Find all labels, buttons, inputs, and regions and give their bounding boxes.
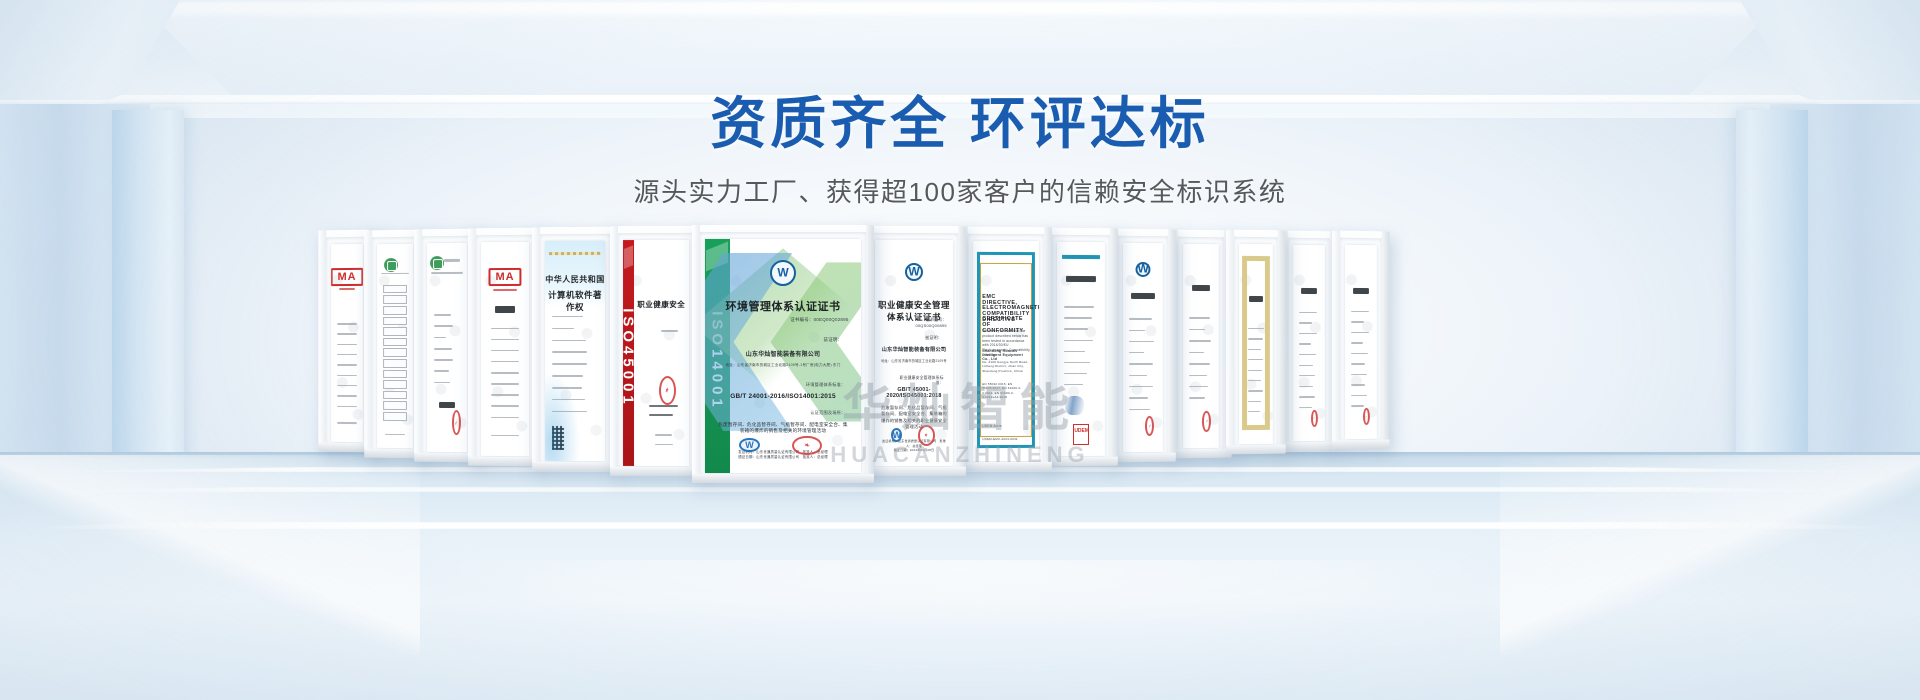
ce-cert-no: UDEM-EMC-2024-0042 xyxy=(982,437,1031,441)
certificate-frame[interactable]: EMC DIRECTIVE,ELECTROMAGNETIC COMPATIBIL… xyxy=(960,227,1052,472)
cert-text-line xyxy=(1299,322,1312,323)
frame-edge-bottom xyxy=(862,467,966,476)
cert-gold-rule xyxy=(549,252,602,255)
cert-text-line xyxy=(1129,397,1147,398)
frame-edge-left xyxy=(318,230,326,451)
cert-text-line xyxy=(337,344,356,345)
cert-table-cell xyxy=(383,317,407,326)
frame-edge-left xyxy=(468,228,476,466)
cert-text-line xyxy=(337,323,356,324)
cert-text-line xyxy=(434,337,446,339)
cert-scope: 危废暂存间、危化品暂存间、气瓶暂存间、配电室安全合、集装箱的爆炸的销售及相关的职… xyxy=(880,405,947,430)
red-seal-icon xyxy=(1202,411,1211,431)
cert-title-bar xyxy=(1353,288,1369,294)
red-seal-icon xyxy=(1311,410,1318,428)
gold-decorative-border xyxy=(1242,256,1270,430)
cert-table-cell xyxy=(383,285,407,294)
certificate-paper xyxy=(377,244,413,448)
cert-text-line xyxy=(1129,318,1151,319)
cert-title: 环境管理体系认证证书 xyxy=(705,298,861,314)
cert-footer-line xyxy=(491,435,520,437)
blue-badge-icon xyxy=(739,438,759,452)
cert-org: 山东华灿智能装备有限公司 xyxy=(875,346,953,353)
page-title: 资质齐全 环评达标 xyxy=(0,92,1920,156)
frame-edge-bottom xyxy=(1170,449,1232,459)
certificate-paper: MA xyxy=(481,242,529,456)
cert-text-line xyxy=(1248,338,1263,339)
cert-text-line xyxy=(552,363,587,365)
cert-text-line xyxy=(1064,351,1085,352)
cert-table-cell xyxy=(383,412,407,421)
cert-stamp-text xyxy=(439,402,455,408)
cert-table-cell xyxy=(383,348,407,357)
cert-issuer-name xyxy=(444,259,460,262)
cert-text-line xyxy=(337,375,356,376)
cert-text-line xyxy=(1248,390,1263,391)
cert-footer-line xyxy=(337,422,356,424)
cert-text-line xyxy=(337,333,356,334)
red-seal-icon xyxy=(452,410,461,435)
cert-text-line xyxy=(1299,396,1316,397)
cert-text-line xyxy=(1064,328,1088,329)
cert-text-line xyxy=(434,314,451,316)
cert-text-line xyxy=(1190,352,1204,353)
cert-title-line1: 中华人民共和国 xyxy=(545,274,605,285)
cert-number: 证书编号：00QS00Q00895 xyxy=(898,317,946,328)
cert-text-line xyxy=(1299,386,1313,387)
cert-text-line xyxy=(1190,317,1211,318)
cert-address: 地址：山东省济南市历城区工业北路2109号-1号厂房(电力大厦) 东门 xyxy=(714,363,851,368)
certificate-paper: 中华人民共和国计算机软件著作权 xyxy=(545,241,605,461)
ma-mark-caption xyxy=(493,289,518,291)
cert-org-label: 兹证明： xyxy=(898,335,942,341)
cert-text-line xyxy=(434,348,452,350)
frame-edge-right xyxy=(1110,228,1118,466)
cert-text-line xyxy=(337,395,356,397)
cnca-logo-icon xyxy=(770,260,796,286)
paper-watermark-pattern xyxy=(1183,244,1219,448)
cert-text-line xyxy=(552,340,586,342)
cert-scope-label: 认证范围及场所： xyxy=(767,410,845,416)
cert-text-line xyxy=(337,405,356,407)
cert-text-line xyxy=(1248,370,1262,371)
frame-edge-left xyxy=(414,229,422,461)
cert-text-line xyxy=(552,351,587,353)
cert-text-line xyxy=(1248,349,1262,350)
frame-edge-bottom xyxy=(610,467,702,476)
cert-text-line xyxy=(1299,343,1311,344)
frame-edge-right xyxy=(866,225,874,483)
cert-title-bar xyxy=(1131,293,1155,299)
cert-org: 山东华灿智能装备有限公司 xyxy=(705,349,861,358)
frame-edge-right xyxy=(1044,227,1052,471)
cert-text-line xyxy=(1248,401,1262,402)
cert-text-line xyxy=(434,325,453,327)
certificate-frame[interactable]: UDEM xyxy=(1044,228,1118,467)
frame-edge-bottom xyxy=(692,474,874,483)
cert-text-line xyxy=(1129,375,1147,376)
cert-table-cell xyxy=(383,338,407,347)
cert-text-line xyxy=(1064,306,1095,307)
cert-table-cell xyxy=(383,359,407,368)
cert-text-line xyxy=(1190,340,1211,341)
cert-address: 地址：山东省济南市历城区工业北路2109号 xyxy=(880,358,947,363)
cert-title-bar xyxy=(1192,285,1209,291)
ce-address: No. 2109 Gongye North Road, Licheng Dist… xyxy=(982,360,1031,374)
certificate-frame[interactable] xyxy=(1332,231,1389,450)
cert-text-line xyxy=(1129,363,1152,364)
certificate-paper xyxy=(1293,245,1325,441)
blue-badge-icon xyxy=(891,428,902,443)
cnas-mark-icon xyxy=(384,258,398,272)
cnca-logo-icon xyxy=(905,263,923,281)
cert-text-line xyxy=(1190,363,1210,364)
cert-number: 证书编号：00EQ00Q02895 xyxy=(767,317,848,323)
cert-text-line xyxy=(552,328,574,330)
frame-edge-bottom xyxy=(1332,440,1389,450)
certificate-paper: EMC DIRECTIVE,ELECTROMAGNETIC COMPATIBIL… xyxy=(973,241,1039,461)
frame-edge-bottom xyxy=(468,457,542,467)
certificate-frame[interactable] xyxy=(1226,230,1286,455)
ma-mark-icon: MA xyxy=(331,268,363,286)
cert-text-line xyxy=(1351,384,1365,385)
certificate-paper xyxy=(1345,245,1377,439)
frame-edge-right xyxy=(1382,231,1390,448)
frame-edge-right xyxy=(958,226,966,476)
cert-text-line xyxy=(655,444,673,445)
cert-text-line xyxy=(1351,405,1364,406)
certificate-paper: ISO45001职业健康安全 xyxy=(623,240,689,466)
cert-standard-label: 职业健康安全管理体系标准： xyxy=(898,376,943,386)
red-seal-icon xyxy=(659,376,676,405)
cert-text-line xyxy=(491,394,520,395)
cert-table-cell xyxy=(383,306,407,315)
certificate-frame[interactable]: 职业健康安全管理体系认证证书证书编号：00QS00Q00895兹证明：山东华灿智… xyxy=(862,226,966,476)
cert-text-line xyxy=(1299,312,1317,313)
cert-text-line xyxy=(434,370,449,372)
ma-mark-caption xyxy=(339,287,355,289)
cert-text-line xyxy=(1351,353,1368,354)
certificate-frame[interactable]: MA xyxy=(468,228,542,467)
cert-text-line xyxy=(491,339,520,340)
cert-text-line xyxy=(491,372,520,373)
cert-text-line xyxy=(491,405,520,407)
certificate-paper xyxy=(427,243,467,452)
cert-standard: GB/T 24001-2016/ISO14001:2015 xyxy=(705,393,861,400)
certificate-frame[interactable]: ISO14001环境管理体系认证证书证书编号：00EQ00Q02895兹证明：山… xyxy=(692,225,874,483)
frame-edge-left xyxy=(692,225,700,483)
frame-edge-left xyxy=(532,227,540,471)
cert-text-line xyxy=(649,405,678,407)
iso45001-red-band: ISO45001 xyxy=(623,240,634,466)
cert-standard-label: 环境管理体系标准： xyxy=(767,382,845,388)
certificate-paper xyxy=(1183,244,1219,448)
certificate-paper xyxy=(1239,244,1273,444)
frame-edge-bottom xyxy=(1226,445,1286,455)
certificate-frame[interactable] xyxy=(1280,231,1338,452)
cert-text-line xyxy=(1299,365,1314,366)
cert-title-bar xyxy=(1249,296,1263,302)
cert-text-line xyxy=(434,359,452,361)
certificate-paper: ISO14001环境管理体系认证证书证书编号：00EQ00Q02895兹证明：山… xyxy=(705,239,861,473)
certificate-paper xyxy=(1123,243,1163,452)
band-corner-accent xyxy=(624,245,633,269)
ceiling-light-glow xyxy=(130,2,1790,20)
frame-edge-left xyxy=(1332,231,1340,450)
cert-rule xyxy=(381,272,410,274)
ce-issuer: UDEM Adria xyxy=(982,424,1031,428)
cert-text-line xyxy=(1351,321,1364,322)
cnca-logo-icon xyxy=(1136,262,1151,277)
cert-title-line2: 计算机软件著作权 xyxy=(545,289,605,313)
frame-edge-right xyxy=(1168,229,1176,461)
cert-table-cell xyxy=(383,380,407,389)
cert-text-line xyxy=(1064,317,1092,318)
certificate-frame[interactable] xyxy=(1170,230,1232,459)
cert-text-line xyxy=(491,417,520,419)
cert-text-line xyxy=(1129,341,1154,342)
udem-logo-icon: UDEM xyxy=(1073,424,1088,445)
blue-decor-swirl xyxy=(545,369,581,462)
cert-table-cell xyxy=(383,295,407,304)
frame-edge-bottom xyxy=(960,462,1052,472)
cert-certno-line xyxy=(661,330,678,331)
cert-text-line xyxy=(655,434,672,435)
cert-table-cell xyxy=(383,401,407,410)
headline-block: 资质齐全 环评达标 源头实力工厂、获得超100家客户的信赖安全标识系统 xyxy=(0,92,1920,209)
frame-edge-left xyxy=(1226,230,1234,455)
iso45001-number: ISO45001 xyxy=(623,308,637,408)
cert-text-line xyxy=(1299,333,1317,334)
frame-edge-bottom xyxy=(1280,442,1338,452)
udem-top-bar xyxy=(1062,255,1100,259)
cert-text-line xyxy=(1351,342,1363,343)
cert-table-cell xyxy=(383,370,407,379)
udem-title xyxy=(1066,276,1097,282)
cert-table-cell xyxy=(383,327,407,336)
certificate-frame[interactable]: 中华人民共和国计算机软件著作权 xyxy=(532,227,618,471)
cert-title-bar xyxy=(1301,288,1317,294)
cert-signature-block: 发证机构：山东世通质量认证有限公司 批准人：总经理颁证日期：山东世通质量认证有限… xyxy=(716,450,850,461)
cert-text-line xyxy=(1190,397,1206,398)
cert-text-line xyxy=(1129,408,1150,410)
cert-rule xyxy=(431,272,463,274)
certificate-paper: UDEM xyxy=(1057,242,1105,456)
cert-text-line xyxy=(1351,374,1367,375)
cert-text-line xyxy=(491,383,520,384)
ma-mark-icon: MA xyxy=(488,268,521,286)
cert-scope: 危废暂存间、危化品暂存间、气瓶暂存间、配电室安全合、集装箱的爆炸的销售及相关的环… xyxy=(716,422,850,436)
cnas-mark-icon xyxy=(430,256,444,270)
frame-edge-bottom xyxy=(1110,453,1176,463)
frame-edge-right xyxy=(1278,230,1286,453)
certificate-frame[interactable] xyxy=(1110,229,1176,463)
cert-text-line xyxy=(337,364,356,365)
cert-title: 职业健康安全 xyxy=(635,299,688,310)
signature-mark xyxy=(1065,396,1084,415)
cert-text-line xyxy=(1351,395,1367,396)
red-seal-icon xyxy=(918,425,935,445)
banner-stage: 资质齐全 环评达标 源头实力工厂、获得超100家客户的信赖安全标识系统 MA M… xyxy=(0,0,1920,700)
cert-text-line xyxy=(1351,363,1366,364)
cert-text-line xyxy=(1129,329,1145,330)
cert-table-cell xyxy=(383,391,407,400)
certificate-frame[interactable]: ISO45001职业健康安全 xyxy=(610,226,702,476)
cert-signature-block: 发证机构：山东世通质量认证有限公司 批准人：总经理颁证日期：2024年01月08… xyxy=(880,439,947,454)
cert-text-line xyxy=(1064,340,1093,341)
frame-edge-bottom xyxy=(532,462,618,471)
cert-text-line xyxy=(1351,332,1369,333)
cert-text-line xyxy=(649,414,673,416)
certificate-paper: 职业健康安全管理体系认证证书证书编号：00QS00Q00895兹证明：山东华灿智… xyxy=(875,240,953,466)
page-subtitle: 源头实力工厂、获得超100家客户的信赖安全标识系统 xyxy=(0,172,1920,209)
frame-edge-left xyxy=(610,226,618,476)
cert-text-line xyxy=(1190,375,1207,376)
certificate-paper: MA xyxy=(331,244,363,442)
ce-standards: EN 55032:2015, EN 55035:2017, EN 61000-3… xyxy=(982,382,1031,400)
cert-text-line xyxy=(491,328,520,329)
cert-heading-bar xyxy=(495,306,514,313)
cert-org-label: 兹证明： xyxy=(767,337,842,343)
frame-edge-bottom xyxy=(1044,457,1118,467)
cert-standard: GB/T 45001-2020/ISO45001:2018 xyxy=(875,387,953,399)
certificate-wall: MA MA 中华人民共和国计算机软件著作权 ISO45001职业健康安全 xyxy=(0,225,1920,525)
frame-edge-left xyxy=(364,230,372,457)
